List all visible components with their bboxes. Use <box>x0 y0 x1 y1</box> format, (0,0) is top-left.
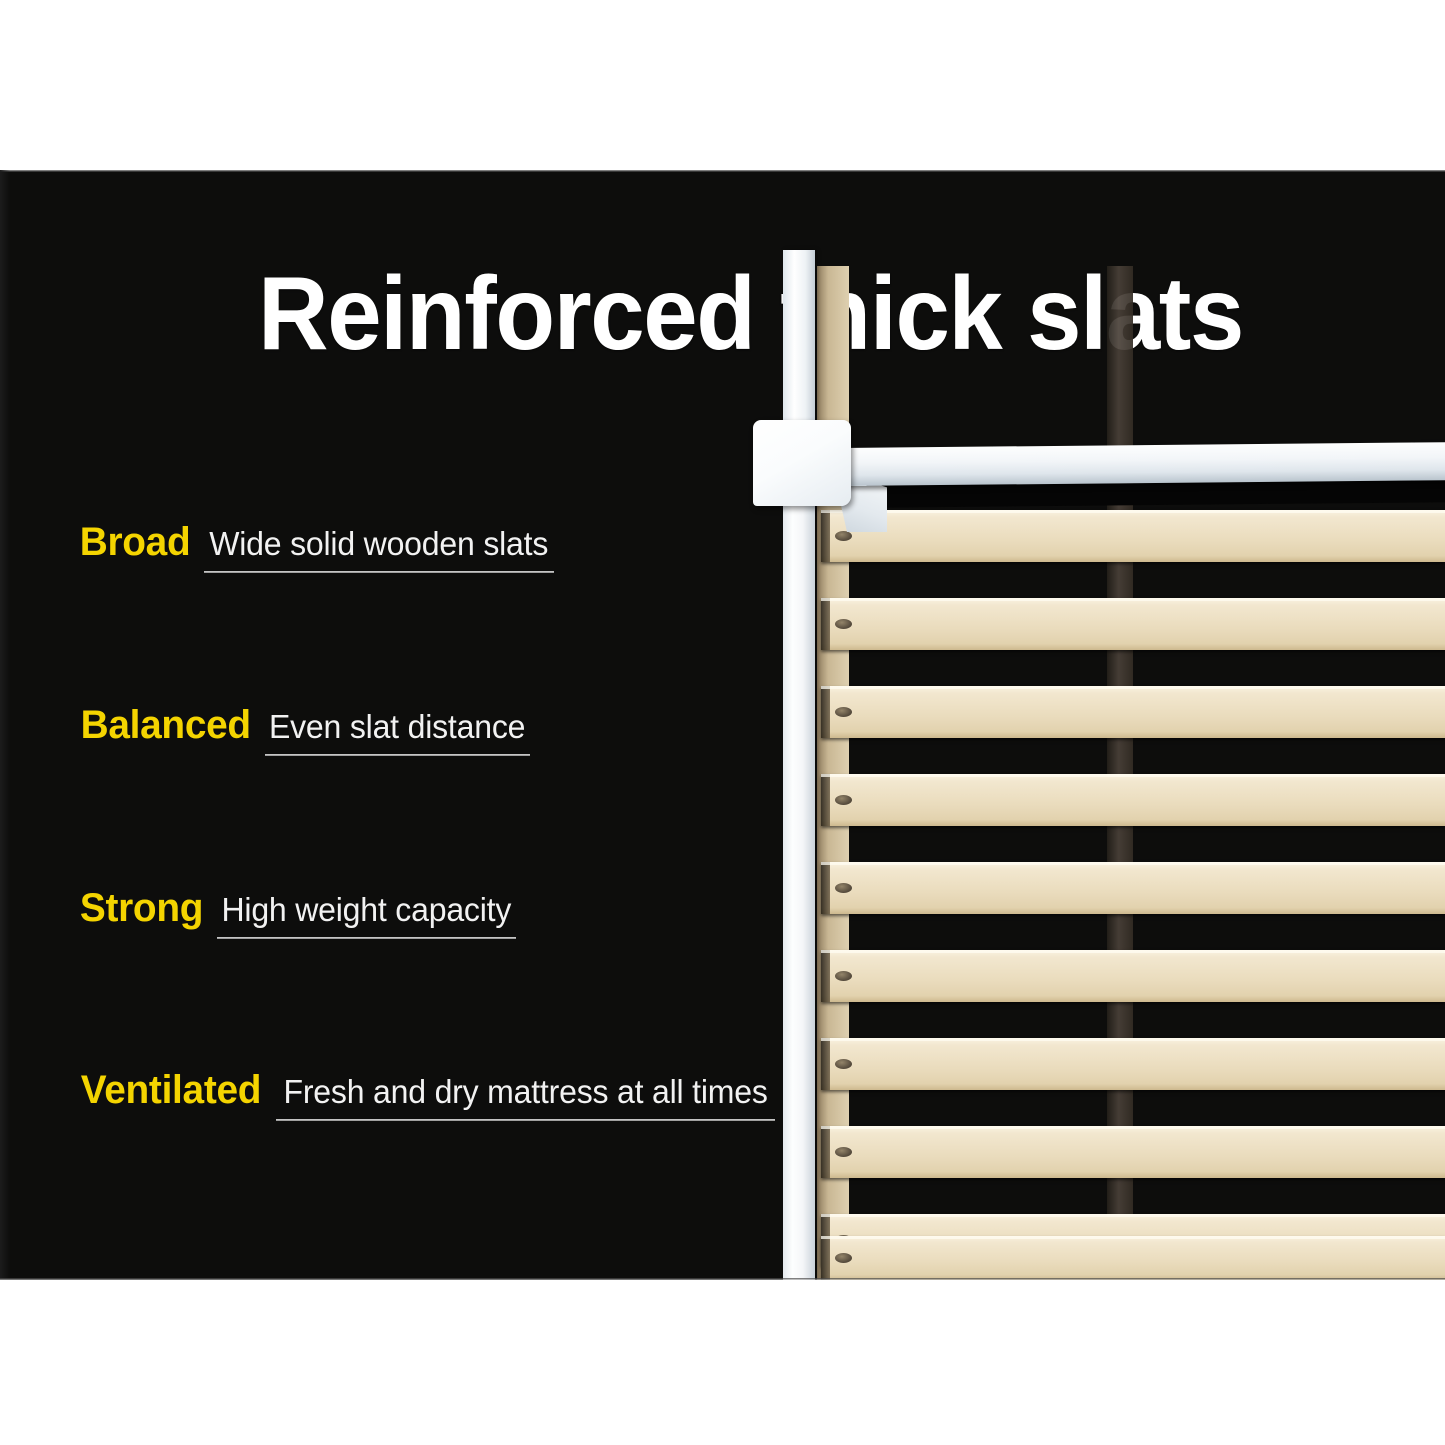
feature-description-ventilated: Fresh and dry mattress at all times <box>283 1075 767 1108</box>
slat-end-shadow <box>821 1236 830 1280</box>
post-upper-section <box>783 250 815 430</box>
product-photo <box>745 170 1445 1280</box>
slat-end-shadow <box>821 774 830 826</box>
slat-end-shadow <box>821 510 830 562</box>
slat-screw <box>835 531 852 541</box>
slat-screw <box>835 1059 852 1069</box>
feature-desc-wrap-strong: High weight capacity <box>217 893 516 939</box>
wooden-slat <box>821 774 1445 826</box>
feature-row-broad: Broad Wide solid wooden slats <box>78 522 554 573</box>
slat-end-shadow <box>821 950 830 1002</box>
feature-description-broad: Wide solid wooden slats <box>209 527 548 560</box>
feature-description-balanced: Even slat distance <box>269 710 525 743</box>
slat-end-shadow <box>821 862 830 914</box>
feature-label-strong: Strong <box>80 888 203 928</box>
head-rail <box>841 442 1445 486</box>
slat-end-shadow <box>821 1038 830 1090</box>
slat-screw <box>835 1253 852 1263</box>
slat-screw <box>835 971 852 981</box>
slat-end-shadow <box>821 1126 830 1178</box>
feature-underline-strong <box>217 937 516 939</box>
wooden-slat <box>821 1236 1445 1280</box>
feature-desc-wrap-ventilated: Fresh and dry mattress at all times <box>276 1075 775 1121</box>
slat-screw <box>835 1147 852 1157</box>
feature-underline-ventilated <box>276 1119 775 1121</box>
feature-label-balanced: Balanced <box>81 705 251 745</box>
feature-underline-broad <box>204 571 553 573</box>
panel-bottom-divider <box>0 1278 1445 1280</box>
feature-description-strong: High weight capacity <box>222 893 512 926</box>
slat-screw <box>835 795 852 805</box>
slat-screw <box>835 883 852 893</box>
corner-cap <box>753 420 851 506</box>
wooden-slat <box>821 510 1445 562</box>
wooden-slat <box>821 862 1445 914</box>
feature-label-broad: Broad <box>80 522 191 562</box>
feature-desc-wrap-balanced: Even slat distance <box>265 710 529 756</box>
feature-underline-balanced <box>265 754 529 756</box>
feature-row-strong: Strong High weight capacity <box>78 888 516 939</box>
feature-row-ventilated: Ventilated Fresh and dry mattress at all… <box>78 1070 775 1121</box>
feature-row-balanced: Balanced Even slat distance <box>78 705 530 756</box>
wooden-slat <box>821 1126 1445 1178</box>
slat-end-shadow <box>821 686 830 738</box>
slat-screw <box>835 707 852 717</box>
slat-screw <box>835 619 852 629</box>
wooden-slat <box>821 686 1445 738</box>
wooden-slat <box>821 1038 1445 1090</box>
slat-end-shadow <box>821 598 830 650</box>
feature-label-ventilated: Ventilated <box>81 1070 261 1110</box>
page-canvas: Reinforced thick slats Broad Wide solid … <box>0 0 1445 1445</box>
panel-left-edge <box>0 170 10 1280</box>
feature-panel: Reinforced thick slats Broad Wide solid … <box>0 170 1445 1280</box>
feature-desc-wrap-broad: Wide solid wooden slats <box>204 527 553 573</box>
wooden-slat <box>821 598 1445 650</box>
wooden-slat <box>821 950 1445 1002</box>
